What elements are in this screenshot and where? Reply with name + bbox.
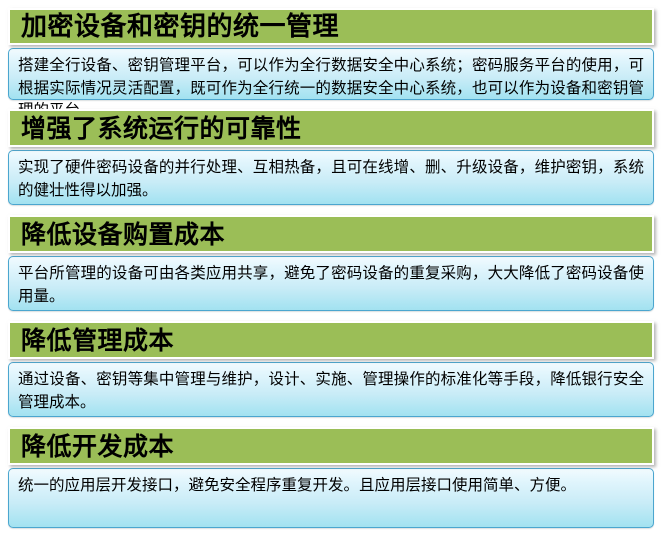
slide-container: 加密设备和密钥的统一管理 搭建全行设备、密钥管理平台，可以作为全行数据安全中心系… xyxy=(0,0,662,553)
section-heading-bar: 增强了系统运行的可靠性 xyxy=(8,109,654,147)
section-heading-text: 降低开发成本 xyxy=(21,434,174,459)
section-body-box: 统一的应用层开发接口，避免安全程序重复开发。且应用层接口使用简单、方便。 xyxy=(8,468,654,528)
section-body-box: 平台所管理的设备可由各类应用共享，避免了密码设备的重复采购，大大降低了密码设备使… xyxy=(8,256,654,311)
section-body-text: 实现了硬件密码设备的并行处理、互相热备，且可在线增、删、升级设备，维护密钥，系统… xyxy=(18,156,644,201)
section-block: 增强了系统运行的可靠性 实现了硬件密码设备的并行处理、互相热备，且可在线增、删、… xyxy=(8,109,654,205)
section-heading-text: 增强了系统运行的可靠性 xyxy=(21,116,302,141)
section-body-text: 平台所管理的设备可由各类应用共享，避免了密码设备的重复采购，大大降低了密码设备使… xyxy=(18,262,644,307)
section-heading-bar: 降低开发成本 xyxy=(8,427,654,465)
section-heading-text: 降低设备购置成本 xyxy=(21,222,225,247)
section-block: 降低设备购置成本 平台所管理的设备可由各类应用共享，避免了密码设备的重复采购，大… xyxy=(8,215,654,311)
section-heading-bar: 加密设备和密钥的统一管理 xyxy=(8,8,654,45)
section-heading-bar: 降低设备购置成本 xyxy=(8,215,654,253)
section-heading-text: 降低管理成本 xyxy=(21,328,174,353)
section-body-box: 实现了硬件密码设备的并行处理、互相热备，且可在线增、删、升级设备，维护密钥，系统… xyxy=(8,150,654,205)
section-heading-bar: 降低管理成本 xyxy=(8,321,654,359)
section-block: 加密设备和密钥的统一管理 搭建全行设备、密钥管理平台，可以作为全行数据安全中心系… xyxy=(8,8,654,100)
section-heading-text: 加密设备和密钥的统一管理 xyxy=(21,14,339,40)
section-body-box: 搭建全行设备、密钥管理平台，可以作为全行数据安全中心系统；密码服务平台的使用，可… xyxy=(8,48,654,100)
section-body-text: 统一的应用层开发接口，避免安全程序重复开发。且应用层接口使用简单、方便。 xyxy=(18,474,644,497)
section-body-text: 通过设备、密钥等集中管理与维护，设计、实施、管理操作的标准化等手段，降低银行安全… xyxy=(18,368,644,413)
section-block: 降低管理成本 通过设备、密钥等集中管理与维护，设计、实施、管理操作的标准化等手段… xyxy=(8,321,654,417)
section-block: 降低开发成本 统一的应用层开发接口，避免安全程序重复开发。且应用层接口使用简单、… xyxy=(8,427,654,528)
section-body-box: 通过设备、密钥等集中管理与维护，设计、实施、管理操作的标准化等手段，降低银行安全… xyxy=(8,362,654,417)
